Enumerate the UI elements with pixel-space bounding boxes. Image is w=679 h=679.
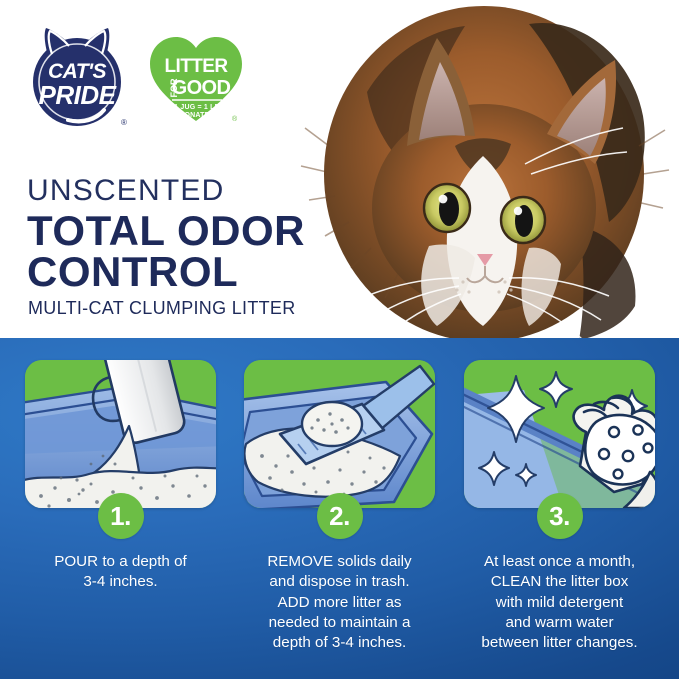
badge-registered-mark: ® xyxy=(232,115,238,123)
headline-subtitle: MULTI-CAT CLUMPING LITTER xyxy=(28,299,305,317)
step-3-number-badge: 3. xyxy=(537,493,583,539)
headline-title-line1: TOTAL ODOR xyxy=(27,210,305,251)
product-infographic: CAT'S PRIDE ® LITTER FOR GOOD 1 JUG = 1 … xyxy=(0,0,679,679)
step-2-caption-line-3: ADD more litter as xyxy=(230,593,449,613)
step-3-caption-line-3: with mild detergent xyxy=(449,593,670,613)
step-2-caption-line-5: depth of 3-4 inches. xyxy=(230,633,449,653)
step-3-caption-line-1: At least once a month, xyxy=(449,552,670,572)
cats-pride-logo: CAT'S PRIDE ® xyxy=(22,24,132,132)
instructions-section: 1. POUR to a depth of 3-4 inches. xyxy=(0,338,679,679)
hero-image-container xyxy=(279,0,679,340)
steps-row: 1. POUR to a depth of 3-4 inches. xyxy=(0,338,679,679)
step-1-caption: POUR to a depth of 3-4 inches. xyxy=(13,552,228,593)
litter-for-good-badge: LITTER FOR GOOD 1 JUG = 1 LB DONATED ® xyxy=(146,28,246,128)
hero-section: CAT'S PRIDE ® LITTER FOR GOOD 1 JUG = 1 … xyxy=(0,0,679,340)
step-3-caption-line-2: CLEAN the litter box xyxy=(449,572,670,592)
logo-registered-mark: ® xyxy=(121,118,127,127)
step-1-caption-line-1: POUR to a depth of xyxy=(13,552,228,572)
step-3: 3. At least once a month, CLEAN the litt… xyxy=(464,360,655,508)
step-3-caption-line-4: and warm water xyxy=(449,613,670,633)
step-3-caption: At least once a month, CLEAN the litter … xyxy=(449,552,670,654)
headline-title-line2: CONTROL xyxy=(27,251,305,292)
step-1: 1. POUR to a depth of 3-4 inches. xyxy=(25,360,216,508)
step-2: 2. REMOVE solids daily and dispose in tr… xyxy=(244,360,435,508)
badge-subtext-2: DONATED xyxy=(179,112,215,119)
calico-cat-photo xyxy=(279,0,679,340)
badge-text-good: GOOD xyxy=(172,77,231,99)
step-1-number-badge: 1. xyxy=(98,493,144,539)
scoop-solids-icon xyxy=(244,360,435,508)
step-2-number-badge: 2. xyxy=(317,493,363,539)
logo-text-line2: PRIDE xyxy=(39,80,117,110)
badge-subtext-1: 1 JUG = 1 LB xyxy=(174,104,220,111)
step-2-caption-line-1: REMOVE solids daily xyxy=(230,552,449,572)
logo-row: CAT'S PRIDE ® LITTER FOR GOOD 1 JUG = 1 … xyxy=(22,24,246,132)
clean-box-sponge-icon xyxy=(464,360,655,508)
step-2-caption-line-4: needed to maintain a xyxy=(230,613,449,633)
step-2-caption-line-2: and dispose in trash. xyxy=(230,572,449,592)
badge-text-litter: LITTER xyxy=(165,56,229,77)
step-2-panel xyxy=(244,360,435,508)
step-3-panel xyxy=(464,360,655,508)
step-2-caption: REMOVE solids daily and dispose in trash… xyxy=(230,552,449,654)
step-3-caption-line-5: between litter changes. xyxy=(449,633,670,653)
headline-block: UNSCENTED TOTAL ODOR CONTROL MULTI-CAT C… xyxy=(27,176,305,317)
step-1-caption-line-2: 3-4 inches. xyxy=(13,572,228,592)
step-1-panel xyxy=(25,360,216,508)
headline-eyebrow: UNSCENTED xyxy=(27,176,305,206)
pour-litter-into-box-icon xyxy=(25,360,216,508)
